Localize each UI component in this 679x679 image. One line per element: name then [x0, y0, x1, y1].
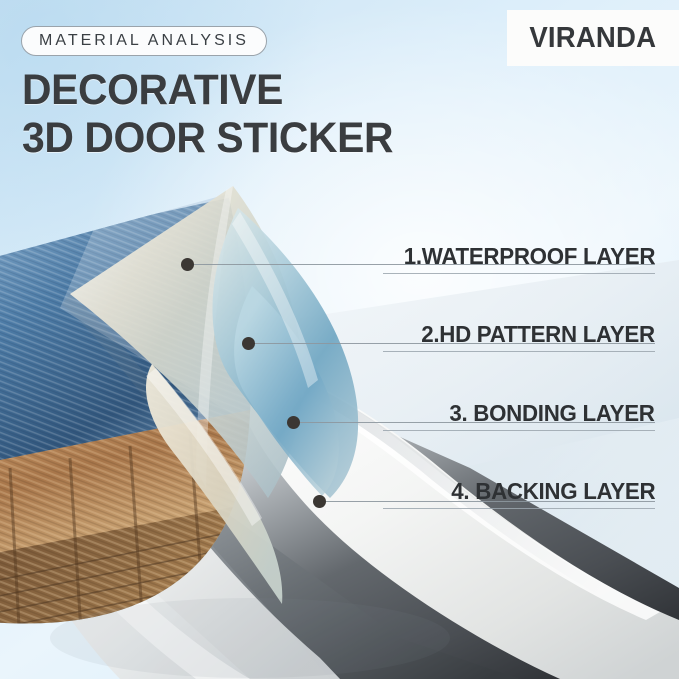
- marker-dot-hd-pattern: [242, 337, 255, 350]
- title-line-1: DECORATIVE: [22, 66, 459, 114]
- callout-underline: [383, 351, 655, 352]
- leader-line-hd-pattern: [253, 343, 655, 344]
- leader-line-bonding: [298, 422, 655, 423]
- marker-dot-waterproof: [181, 258, 194, 271]
- marker-dot-bonding: [287, 416, 300, 429]
- brand-logo: VIRANDA: [507, 10, 679, 66]
- brand-name: VIRANDA: [530, 22, 657, 55]
- callout-underline: [383, 508, 655, 509]
- callout-underline: [383, 273, 655, 274]
- title-line-2: 3D DOOR STICKER: [22, 114, 459, 162]
- callout-hd-pattern-layer: 2.HD PATTERN LAYER: [355, 321, 655, 352]
- callout-backing-layer: 4. BACKING LAYER: [355, 478, 655, 509]
- callout-underline: [383, 430, 655, 431]
- contact-shadow: [50, 598, 450, 678]
- poster-canvas: MATERIAL ANALYSIS DECORATIVE 3D DOOR STI…: [0, 0, 679, 679]
- page-title: DECORATIVE 3D DOOR STICKER: [22, 66, 482, 162]
- marker-dot-backing: [313, 495, 326, 508]
- badge-label: MATERIAL ANALYSIS: [39, 32, 249, 50]
- leader-line-waterproof: [192, 264, 655, 265]
- material-analysis-badge: MATERIAL ANALYSIS: [21, 26, 267, 56]
- callout-waterproof-layer: 1.WATERPROOF LAYER: [355, 243, 655, 274]
- leader-line-backing: [324, 501, 655, 502]
- callout-bonding-layer: 3. BONDING LAYER: [355, 400, 655, 431]
- callout-label: 1.WATERPROOF LAYER: [404, 243, 655, 270]
